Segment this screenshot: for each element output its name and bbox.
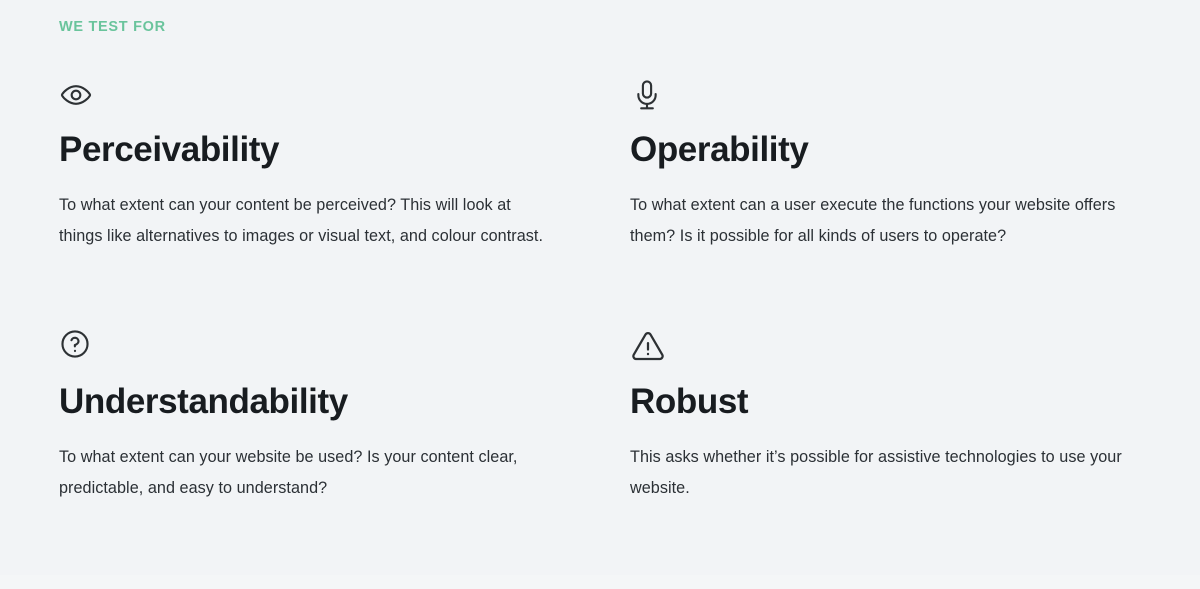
criteria-card-perceivability: Perceivability To what extent can your c…: [0, 78, 615, 251]
criteria-row-1: Perceivability To what extent can your c…: [0, 78, 1200, 328]
criteria-card-robust: Robust This asks whether it’s possible f…: [615, 328, 1200, 503]
section-eyebrow: WE TEST FOR: [59, 17, 166, 37]
card-title: Perceivability: [59, 128, 555, 172]
card-body: To what extent can a user execute the fu…: [630, 190, 1130, 251]
question-mark-circle-icon: [59, 328, 555, 368]
criteria-card-understandability: Understandability To what extent can you…: [0, 328, 615, 503]
card-title: Operability: [630, 128, 1130, 172]
criteria-card-operability: Operability To what extent can a user ex…: [615, 78, 1200, 251]
eye-icon: [59, 78, 555, 118]
page-bottom-band: [0, 575, 1200, 589]
criteria-row-2: Understandability To what extent can you…: [0, 328, 1200, 503]
card-body: To what extent can your content be perce…: [59, 190, 555, 251]
warning-triangle-icon: [630, 328, 1130, 368]
card-title: Understandability: [59, 380, 555, 424]
card-title: Robust: [630, 380, 1130, 424]
card-body: This asks whether it’s possible for assi…: [630, 442, 1130, 503]
card-body: To what extent can your website be used?…: [59, 442, 555, 503]
criteria-grid: Perceivability To what extent can your c…: [0, 78, 1200, 503]
microphone-icon: [630, 78, 1130, 118]
we-test-for-section: WE TEST FOR Perceivability To what exten…: [0, 0, 1200, 589]
